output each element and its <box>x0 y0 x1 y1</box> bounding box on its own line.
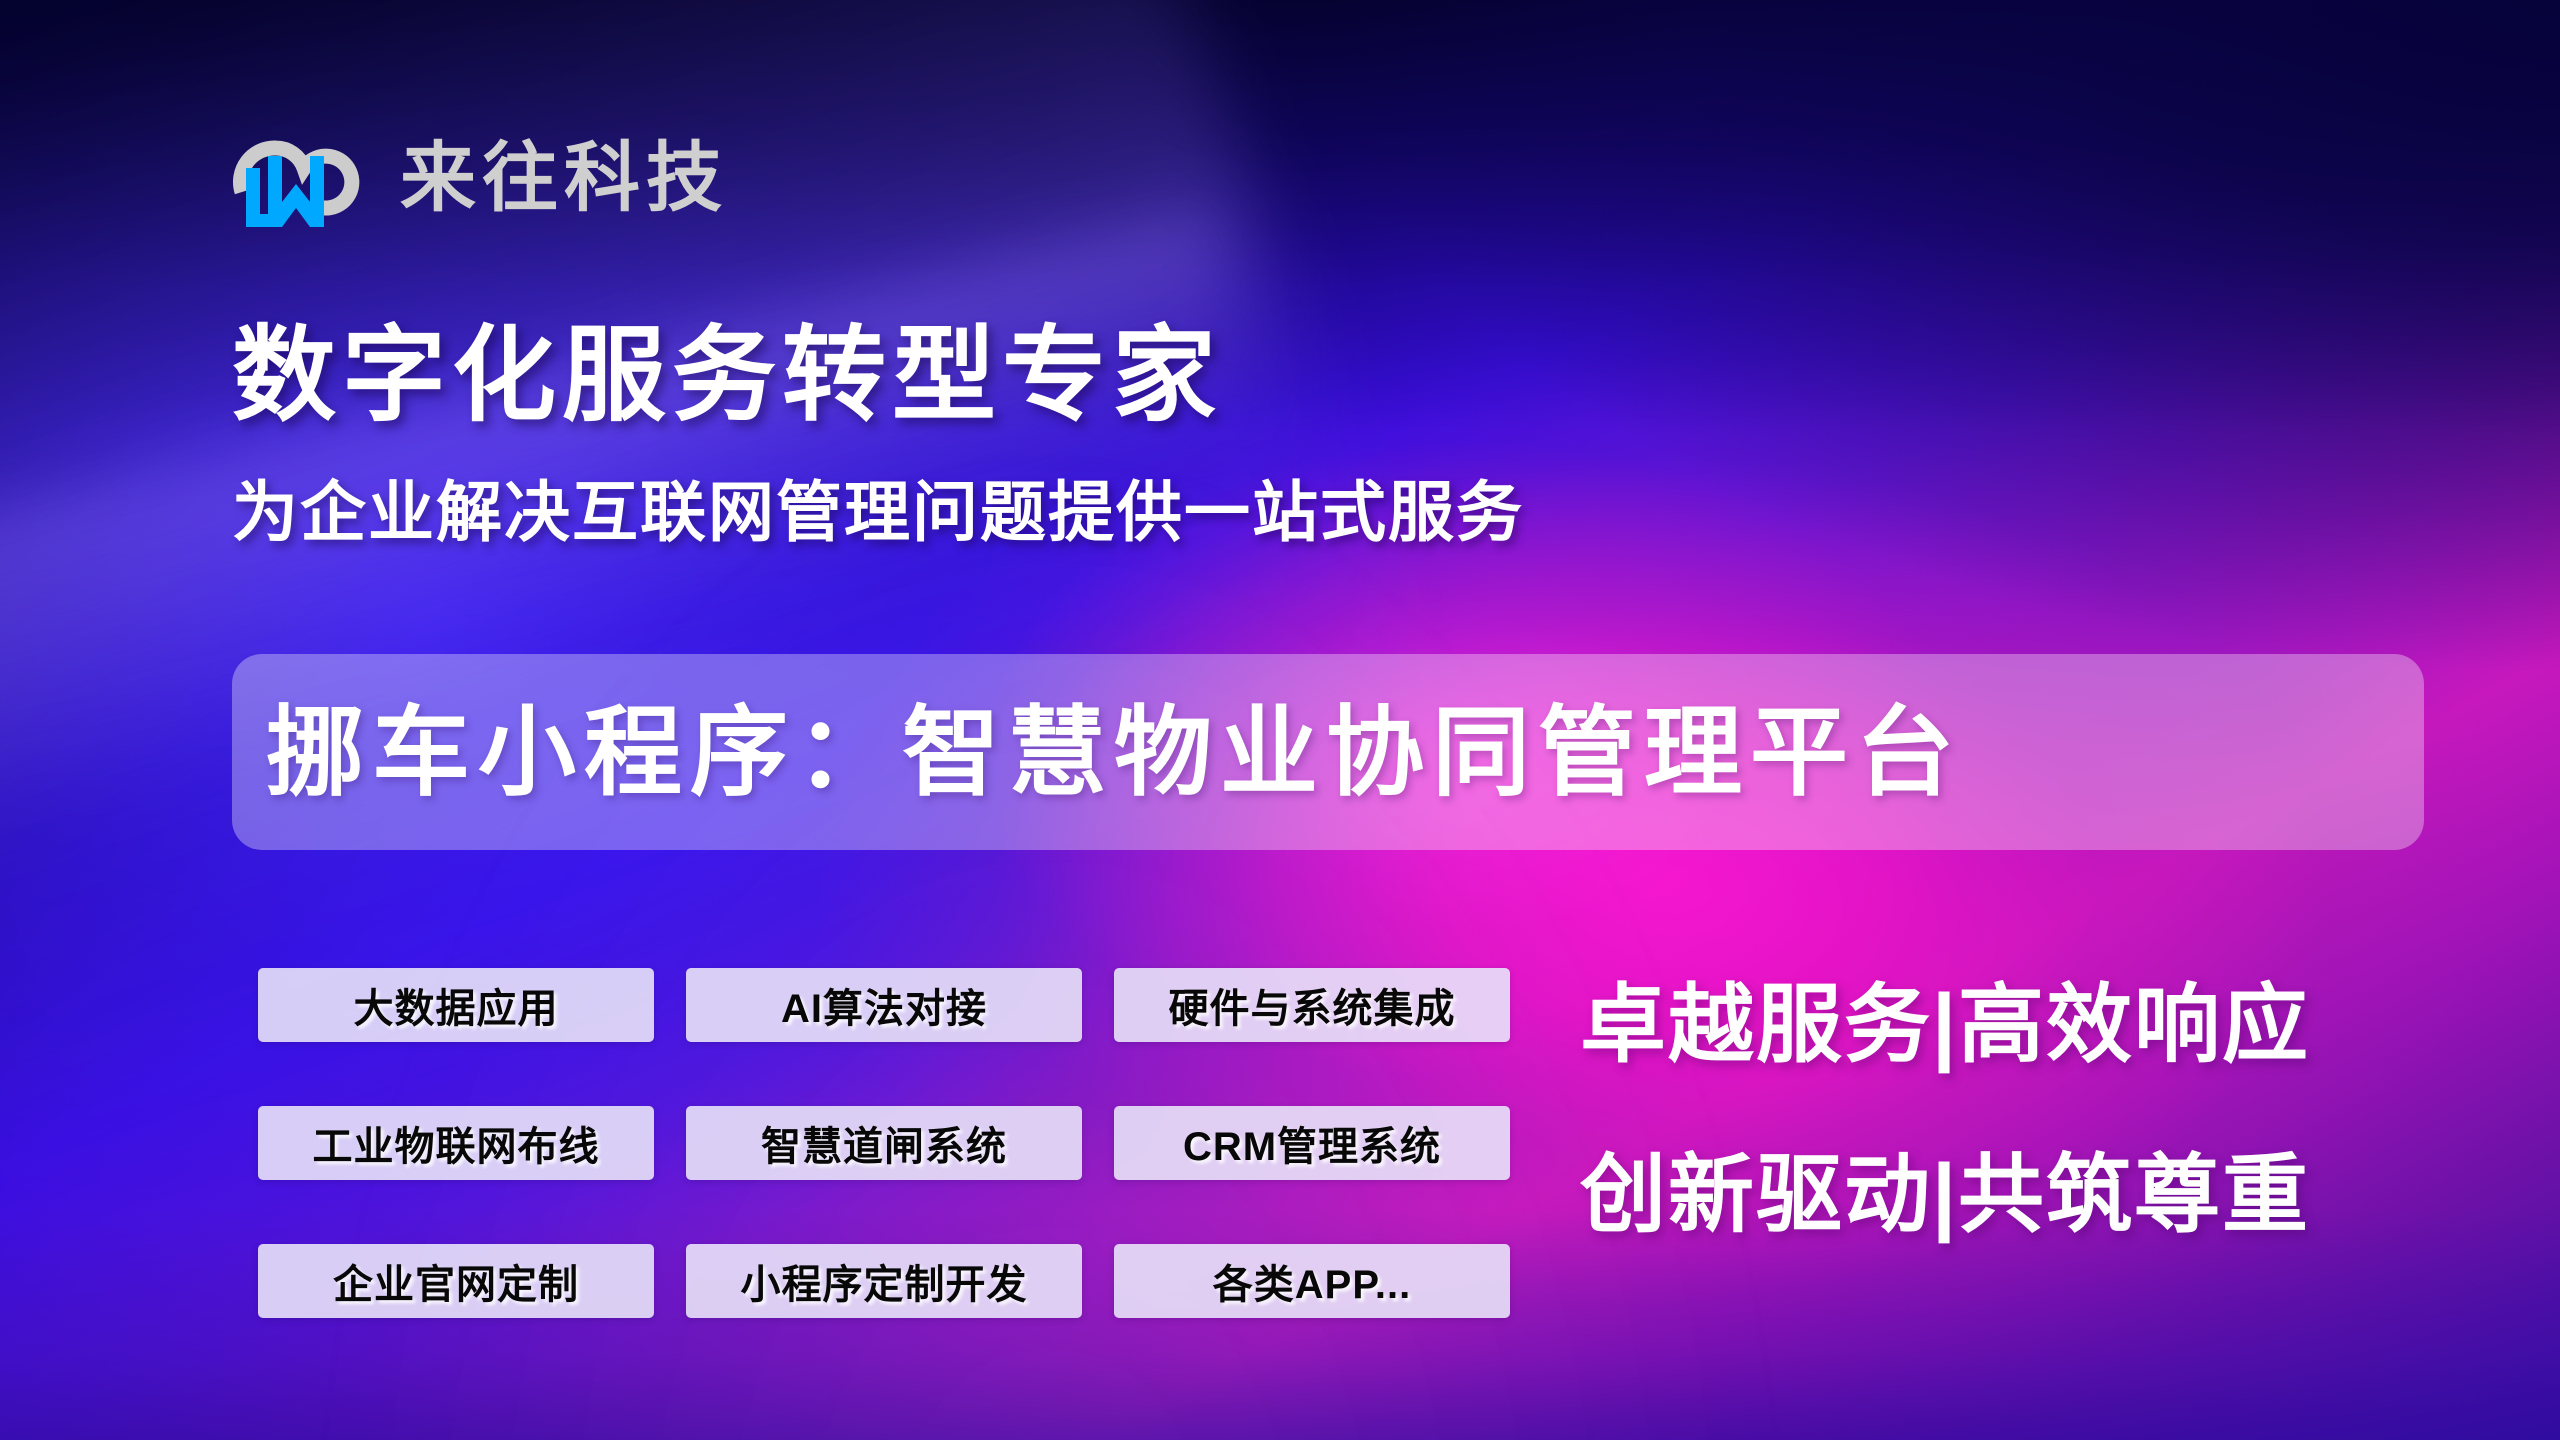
service-tag[interactable]: 小程序定制开发 <box>686 1244 1082 1318</box>
service-tag-grid: 大数据应用 AI算法对接 硬件与系统集成 工业物联网布线 智慧道闸系统 CRM管… <box>258 968 1510 1318</box>
headline-banner: 挪车小程序：智慧物业协同管理平台 <box>232 654 2424 850</box>
service-tag[interactable]: 大数据应用 <box>258 968 654 1042</box>
brand-logo: 来往科技 <box>232 126 728 232</box>
headline-text: 挪车小程序：智慧物业协同管理平台 <box>266 703 1962 801</box>
page-title: 数字化服务转型专家 <box>232 322 1222 431</box>
service-tag[interactable]: CRM管理系统 <box>1114 1106 1510 1180</box>
slogan-line-two: 创新驱动|共筑尊重 <box>1580 1152 2450 1238</box>
cloud-lw-logo-icon <box>232 126 364 232</box>
service-tag[interactable]: AI算法对接 <box>686 968 1082 1042</box>
brand-wordmark: 来往科技 <box>400 141 728 217</box>
service-tag[interactable]: 硬件与系统集成 <box>1114 968 1510 1042</box>
banner-content: 来往科技 数字化服务转型专家 为企业解决互联网管理问题提供一站式服务 挪车小程序… <box>0 0 2560 1440</box>
service-tag[interactable]: 各类APP... <box>1114 1244 1510 1318</box>
slogan-block: 卓越服务|高效响应 创新驱动|共筑尊重 <box>1580 982 2450 1238</box>
service-tag[interactable]: 工业物联网布线 <box>258 1106 654 1180</box>
service-tag[interactable]: 智慧道闸系统 <box>686 1106 1082 1180</box>
service-tag[interactable]: 企业官网定制 <box>258 1244 654 1318</box>
slogan-line-one: 卓越服务|高效响应 <box>1580 982 2450 1068</box>
page-subtitle: 为企业解决互联网管理问题提供一站式服务 <box>232 476 1524 549</box>
promo-banner: 来往科技 数字化服务转型专家 为企业解决互联网管理问题提供一站式服务 挪车小程序… <box>0 0 2560 1440</box>
